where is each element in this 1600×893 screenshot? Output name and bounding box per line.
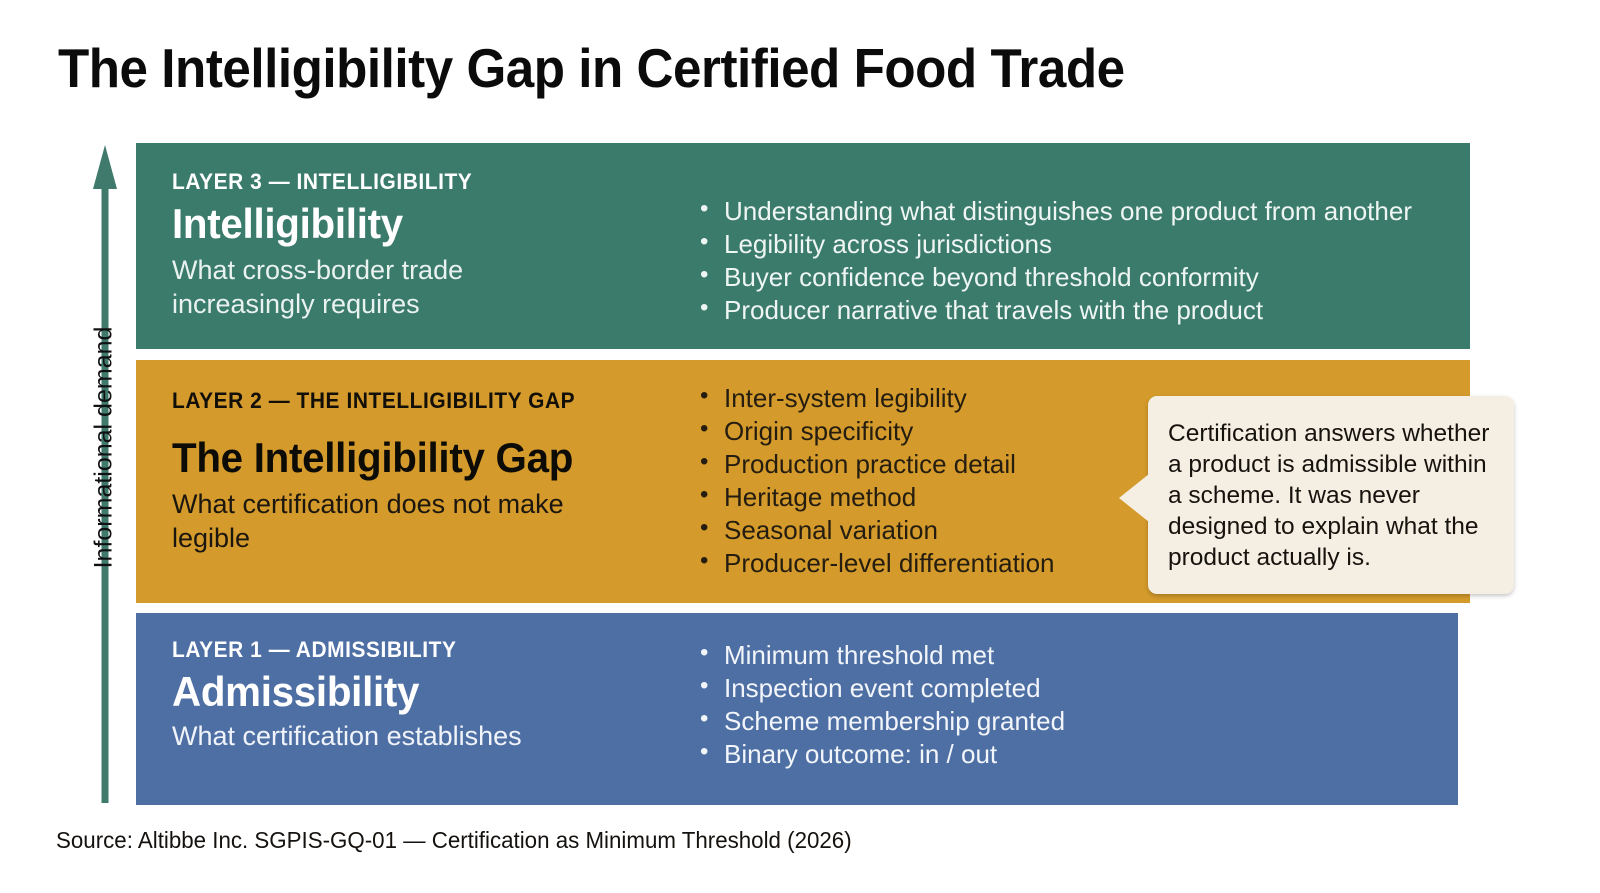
list-item: Minimum threshold met xyxy=(696,639,1458,672)
layer-1-text-block: LAYER 1 — ADMISSIBILITY Admissibility Wh… xyxy=(136,613,696,753)
layer-3-bullets: Understanding what distinguishes one pro… xyxy=(696,143,1470,327)
list-item: Understanding what distinguishes one pro… xyxy=(696,195,1470,228)
layer-1-eyebrow: LAYER 1 — ADMISSIBILITY xyxy=(172,637,670,663)
layer-2-text-block: LAYER 2 — THE INTELLIGIBILITY GAP The In… xyxy=(136,360,696,556)
list-item: Producer narrative that travels with the… xyxy=(696,294,1470,327)
list-item: Buyer confidence beyond threshold confor… xyxy=(696,261,1470,294)
callout-tail-icon xyxy=(1119,474,1149,522)
layer-1-title: Admissibility xyxy=(172,670,675,715)
bullet-list: Understanding what distinguishes one pro… xyxy=(696,195,1470,327)
layer-2-eyebrow: LAYER 2 — THE INTELLIGIBILITY GAP xyxy=(172,388,670,414)
layer-2-title: The Intelligibility Gap xyxy=(172,436,675,481)
layer-1-bullets: Minimum threshold met Inspection event c… xyxy=(696,613,1458,771)
list-item: Legibility across jurisdictions xyxy=(696,228,1470,261)
layer-3-eyebrow: LAYER 3 — INTELLIGIBILITY xyxy=(172,169,670,195)
layer-1-subtitle: What certification establishes xyxy=(172,719,696,754)
source-note: Source: Altibbe Inc. SGPIS-GQ-01 — Certi… xyxy=(56,827,852,854)
layer-3-text-block: LAYER 3 — INTELLIGIBILITY Intelligibilit… xyxy=(136,143,696,322)
list-item: Binary outcome: in / out xyxy=(696,738,1458,771)
axis-label: Informational demand xyxy=(90,148,119,748)
page-title: The Intelligibility Gap in Certified Foo… xyxy=(58,36,1125,100)
bullet-list: Minimum threshold met Inspection event c… xyxy=(696,639,1458,771)
layer-panel-admissibility: LAYER 1 — ADMISSIBILITY Admissibility Wh… xyxy=(136,613,1458,805)
layer-2-subtitle: What certification does not make legible xyxy=(172,487,696,556)
layer-3-subtitle: What cross-border trade increasingly req… xyxy=(172,253,696,322)
informational-demand-axis: Informational demand xyxy=(62,143,128,803)
list-item: Scheme membership granted xyxy=(696,705,1458,738)
list-item: Inspection event completed xyxy=(696,672,1458,705)
layer-3-title: Intelligibility xyxy=(172,202,675,247)
callout-box: Certification answers whether a product … xyxy=(1148,396,1514,594)
callout-text: Certification answers whether a product … xyxy=(1168,420,1489,571)
layer-panel-intelligibility: LAYER 3 — INTELLIGIBILITY Intelligibilit… xyxy=(136,143,1470,349)
